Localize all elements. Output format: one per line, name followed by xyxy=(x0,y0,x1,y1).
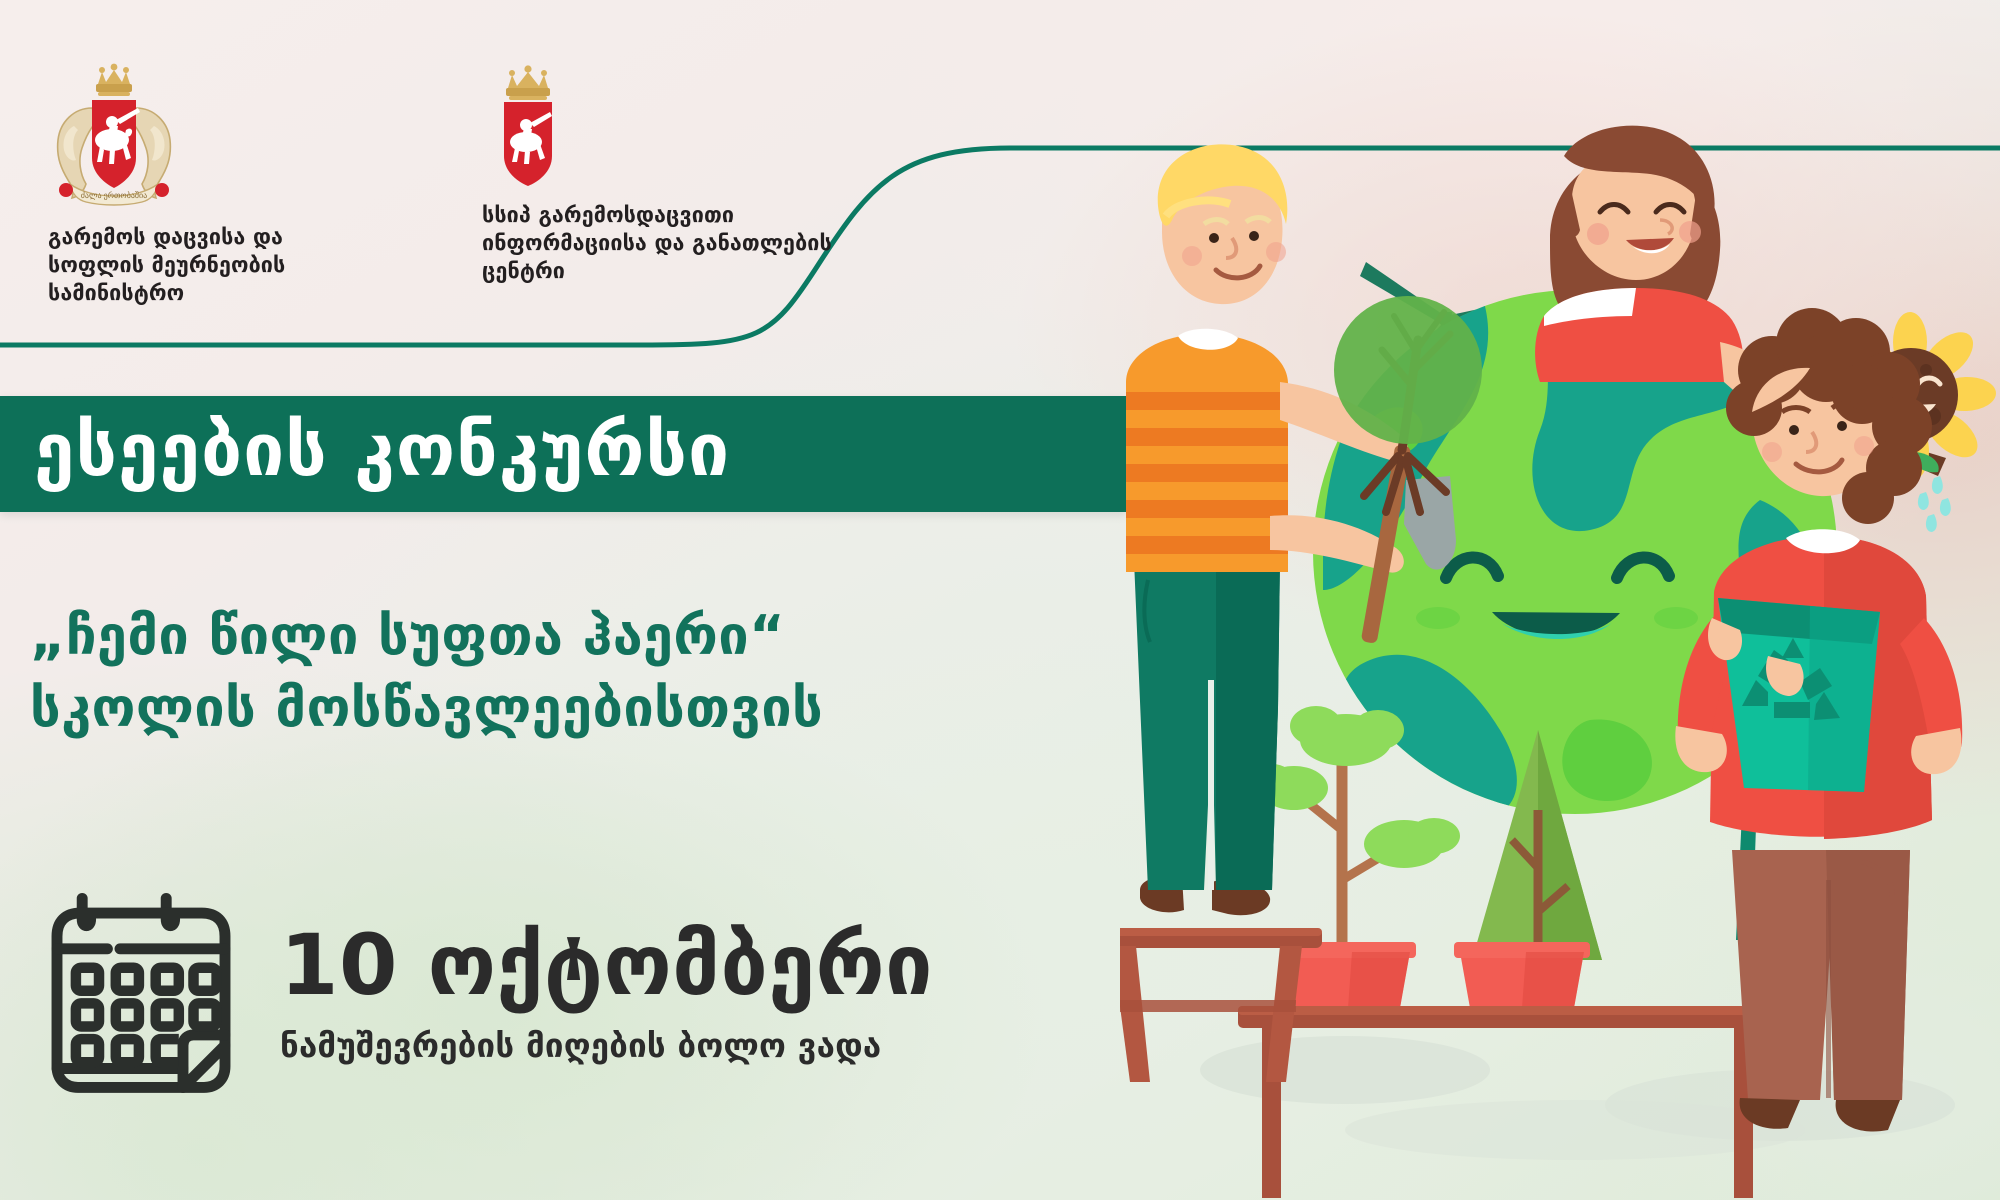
georgia-coat-of-arms-full-icon: ძალა ერთობაშია xyxy=(40,62,188,212)
deadline-block: 10 ოქტომბერი ნამუშევრების მიღების ბოლო ვ… xyxy=(36,880,1216,1110)
ground-shadow-left xyxy=(1200,1036,1490,1104)
children-planting-earth-illustration xyxy=(1120,120,2000,1200)
banner: ესეების კონკურსი xyxy=(0,396,1127,512)
center-logo-label: სსიპ გარემოსდაცვითი ინფორმაციისა და განა… xyxy=(482,202,840,286)
deadline-text: 10 ოქტომბერი ნამუშევრების მიღების ბოლო ვ… xyxy=(280,923,933,1068)
center-logo: სსიპ გარემოსდაცვითი ინფორმაციისა და განა… xyxy=(480,62,840,286)
ministry-logo-label: გარემოს დაცვისა და სოფლის მეურნეობის სამ… xyxy=(48,224,370,308)
logo-group: ძალა ერთობაშია გარემოს დაცვისა და სოფლის… xyxy=(0,0,900,340)
deadline-date: 10 ოქტომბერი xyxy=(280,923,933,1007)
calendar-icon xyxy=(36,890,246,1100)
deadline-caption: ნამუშევრების მიღების ბოლო ვადა xyxy=(280,1029,933,1062)
ministry-logo: ძალა ერთობაშია გარემოს დაცვისა და სოფლის… xyxy=(40,62,370,308)
plant-pot-right xyxy=(1454,942,1590,1008)
poster-root: ძალა ერთობაშია გარემოს დაცვისა და სოფლის… xyxy=(0,0,2000,1200)
subtitle-line-2: სკოლის მოსწავლეებისთვის xyxy=(30,672,1210,744)
georgia-shield-crest-icon xyxy=(480,62,576,190)
banner-title: ესეების კონკურსი xyxy=(34,414,730,495)
recycling-bin xyxy=(1718,598,1880,792)
water-droplets xyxy=(1918,476,1951,532)
svg-text:ძალა ერთობაშია: ძალა ერთობაშია xyxy=(81,191,148,200)
subtitle: „ჩემი წილი სუფთა ჰაერი“ სკოლის მოსწავლეე… xyxy=(30,600,1210,744)
subtitle-line-1: „ჩემი წილი სუფთა ჰაერი“ xyxy=(30,604,785,667)
round-tree-behind xyxy=(1334,296,1482,444)
